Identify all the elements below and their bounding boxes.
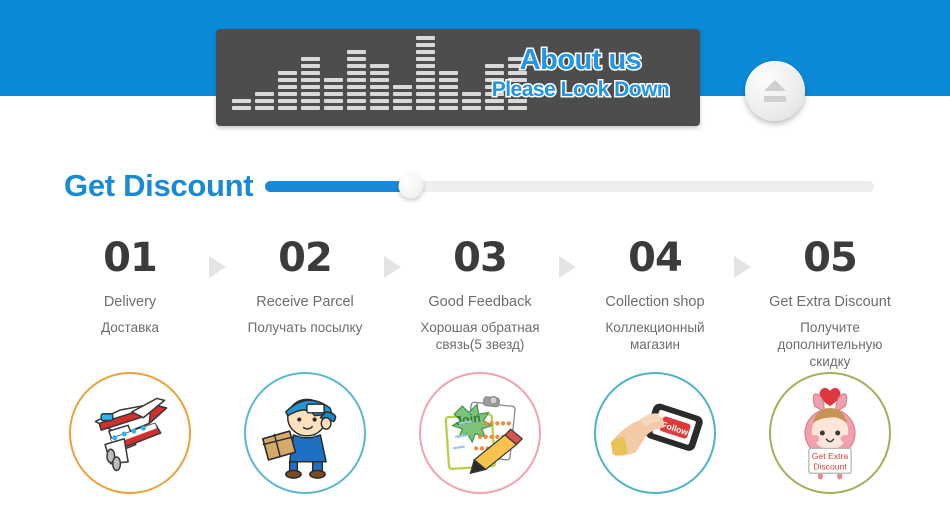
equalizer-segment — [370, 71, 389, 75]
step-icon-cell — [60, 372, 200, 494]
step-number: 03 — [410, 238, 550, 278]
step-number: 05 — [760, 238, 900, 278]
equalizer-segment — [416, 50, 435, 54]
step-item: 03Good FeedbackХорошая обратная связь(5 … — [410, 238, 550, 354]
equalizer-segment — [301, 85, 320, 89]
equalizer-segment — [416, 43, 435, 47]
equalizer-segment — [347, 85, 366, 89]
equalizer-bar — [232, 99, 251, 110]
step-item: 01DeliveryДоставка — [60, 238, 200, 337]
equalizer-segment — [416, 85, 435, 89]
equalizer-segment — [416, 78, 435, 82]
discount-slider-knob[interactable] — [399, 174, 424, 199]
equalizer-segment — [393, 85, 412, 89]
step-separator — [725, 238, 760, 278]
step-separator — [375, 238, 410, 278]
phone-follow-icon: Follow — [594, 372, 716, 494]
equalizer-segment — [301, 78, 320, 82]
equalizer-segment — [393, 92, 412, 96]
equalizer-bar — [324, 78, 343, 110]
step-label-en: Good Feedback — [410, 294, 550, 311]
equalizer-segment — [324, 106, 343, 110]
equalizer-segment — [255, 99, 274, 103]
about-us-banner-page: About us Please Look Down Get Discount 0… — [0, 0, 950, 515]
equalizer-segment — [370, 78, 389, 82]
banner-title: About us — [473, 45, 688, 75]
equalizer-segment — [347, 78, 366, 82]
equalizer-segment — [347, 71, 366, 75]
equalizer-segment — [324, 85, 343, 89]
equalizer-segment — [439, 71, 458, 75]
equalizer-segment — [462, 106, 481, 110]
equalizer-segment — [439, 92, 458, 96]
step-icon-cell — [235, 372, 375, 494]
equalizer-segment — [416, 57, 435, 61]
clipboard-review-icon: Join — [419, 372, 541, 494]
triangle-right-icon — [384, 256, 401, 278]
step-item: 04Collection shopКоллекционный магазин — [585, 238, 725, 354]
equalizer-segment — [416, 92, 435, 96]
equalizer-segment — [347, 99, 366, 103]
equalizer-segment — [370, 92, 389, 96]
equalizer-segment — [416, 71, 435, 75]
about-us-banner: About us Please Look Down — [216, 29, 700, 126]
equalizer-bar — [439, 71, 458, 110]
airplane-icon — [69, 372, 191, 494]
equalizer-segment — [301, 99, 320, 103]
discount-progress-fill — [265, 181, 411, 192]
equalizer-segment — [347, 50, 366, 54]
equalizer-segment — [370, 106, 389, 110]
equalizer-segment — [416, 36, 435, 40]
equalizer-segment — [278, 71, 297, 75]
step-item: 05Get Extra DiscountПолучите дополнитель… — [760, 238, 900, 371]
step-label-en: Collection shop — [585, 294, 725, 311]
step-label-en: Get Extra Discount — [760, 294, 900, 311]
equalizer-segment — [278, 99, 297, 103]
equalizer-segment — [439, 85, 458, 89]
equalizer-bar — [278, 71, 297, 110]
steps-row: 01DeliveryДоставка02Receive ParcelПолуча… — [60, 238, 900, 368]
step-label-ru: Получите дополнительную скидку — [760, 320, 900, 371]
equalizer-segment — [416, 99, 435, 103]
equalizer-segment — [301, 57, 320, 61]
step-number: 02 — [235, 238, 375, 278]
equalizer-segment — [278, 85, 297, 89]
equalizer-bar — [347, 50, 366, 110]
equalizer-segment — [370, 85, 389, 89]
banner-subtitle: Please Look Down — [473, 79, 688, 101]
equalizer-segment — [347, 92, 366, 96]
triangle-right-icon — [734, 256, 751, 278]
equalizer-segment — [347, 106, 366, 110]
equalizer-bar — [416, 36, 435, 110]
step-label-ru: Получать посылку — [235, 320, 375, 337]
equalizer-segment — [301, 106, 320, 110]
delivery-man-icon — [244, 372, 366, 494]
eject-icon-bar — [764, 96, 786, 102]
equalizer-segment — [324, 92, 343, 96]
eject-icon — [764, 80, 786, 91]
step-number: 01 — [60, 238, 200, 278]
eject-button[interactable] — [745, 61, 805, 121]
equalizer-segment — [255, 106, 274, 110]
banner-text-block: About us Please Look Down — [473, 45, 688, 101]
equalizer-bar — [370, 64, 389, 110]
step-number: 04 — [585, 238, 725, 278]
step-icon-cell: Get Extra Discount — [760, 372, 900, 494]
equalizer-segment — [416, 106, 435, 110]
equalizer-segment — [347, 64, 366, 68]
equalizer-segment — [232, 99, 251, 103]
step-icons-row: Join — [60, 372, 900, 500]
step-separator — [200, 238, 235, 278]
get-discount-row: Get Discount — [64, 162, 874, 210]
triangle-right-icon — [559, 256, 576, 278]
svg-text:Get Extra: Get Extra — [812, 451, 849, 461]
step-label-ru: Коллекционный магазин — [585, 320, 725, 354]
discount-progress-track[interactable] — [265, 181, 874, 192]
triangle-right-icon — [209, 256, 226, 278]
equalizer-segment — [508, 106, 527, 110]
equalizer-segment — [393, 106, 412, 110]
equalizer-segment — [347, 57, 366, 61]
equalizer-segment — [393, 99, 412, 103]
equalizer-bar — [393, 85, 412, 110]
equalizer-segment — [324, 99, 343, 103]
equalizer-bar — [255, 92, 274, 110]
equalizer-segment — [439, 78, 458, 82]
step-icon-cell: Join — [410, 372, 550, 494]
svg-text:Discount: Discount — [813, 461, 847, 471]
equalizer-bar — [301, 57, 320, 110]
equalizer-segment — [370, 99, 389, 103]
equalizer-segment — [301, 92, 320, 96]
equalizer-segment — [278, 78, 297, 82]
step-label-en: Receive Parcel — [235, 294, 375, 311]
equalizer-segment — [370, 64, 389, 68]
equalizer-segment — [301, 64, 320, 68]
equalizer-segment — [232, 106, 251, 110]
equalizer-segment — [439, 99, 458, 103]
equalizer-segment — [485, 106, 504, 110]
bunny-discount-icon: Get Extra Discount — [769, 372, 891, 494]
equalizer-segment — [439, 106, 458, 110]
equalizer-segment — [324, 78, 343, 82]
step-label-ru: Хорошая обратная связь(5 звезд) — [410, 320, 550, 354]
equalizer-segment — [301, 71, 320, 75]
get-discount-title: Get Discount — [64, 168, 253, 204]
step-label-ru: Доставка — [60, 320, 200, 337]
step-label-en: Delivery — [60, 294, 200, 311]
equalizer-segment — [416, 64, 435, 68]
step-item: 02Receive ParcelПолучать посылку — [235, 238, 375, 337]
step-icon-cell: Follow — [585, 372, 725, 494]
equalizer-segment — [278, 92, 297, 96]
step-separator — [550, 238, 585, 278]
equalizer-segment — [255, 92, 274, 96]
equalizer-segment — [278, 106, 297, 110]
